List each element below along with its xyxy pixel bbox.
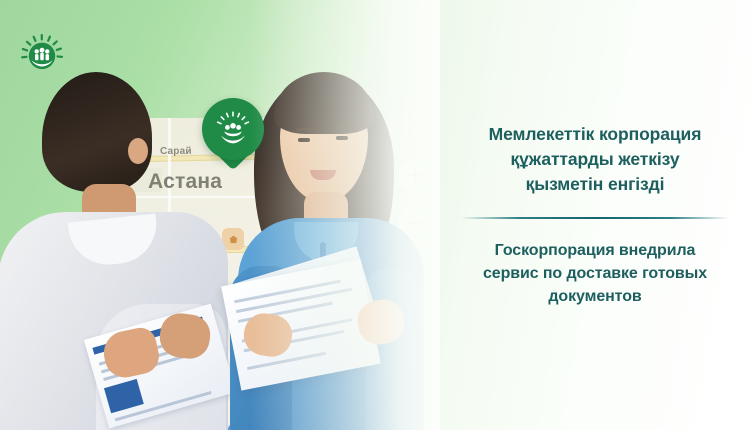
woman-eye <box>298 138 310 142</box>
man-hair <box>42 72 152 192</box>
gov-corporation-logo-icon <box>20 33 64 77</box>
man-ear <box>128 138 148 164</box>
headline-line: қызметін енгізді <box>489 172 702 197</box>
person-man <box>8 72 218 430</box>
document-band <box>104 379 144 413</box>
subline-line: документов <box>483 285 707 308</box>
map-pin-badge[interactable] <box>202 98 264 176</box>
gov-corporation-logo-icon <box>213 109 253 149</box>
woman-eye <box>336 136 348 140</box>
person-woman <box>236 56 426 430</box>
text-divider <box>461 217 729 219</box>
photo-scene: Сарай Астана Сұлтанақ Керей Кран <box>0 0 440 430</box>
text-panel: Мемлекеттік корпорация құжаттарды жеткіз… <box>440 0 750 430</box>
subline-line: Госкорпорация внедрила <box>483 239 707 262</box>
woman-hair-front <box>274 72 374 134</box>
headline-line: Мемлекеттік корпорация <box>489 122 702 147</box>
subline-line: сервис по доставке готовых <box>483 262 707 285</box>
promo-banner: Сарай Астана Сұлтанақ Керей Кран <box>0 0 750 430</box>
headline-line: құжаттарды жеткізу <box>489 147 702 172</box>
headline-kazakh: Мемлекеттік корпорация құжаттарды жеткіз… <box>489 122 702 197</box>
headline-russian: Госкорпорация внедрила сервис по доставк… <box>483 239 707 308</box>
